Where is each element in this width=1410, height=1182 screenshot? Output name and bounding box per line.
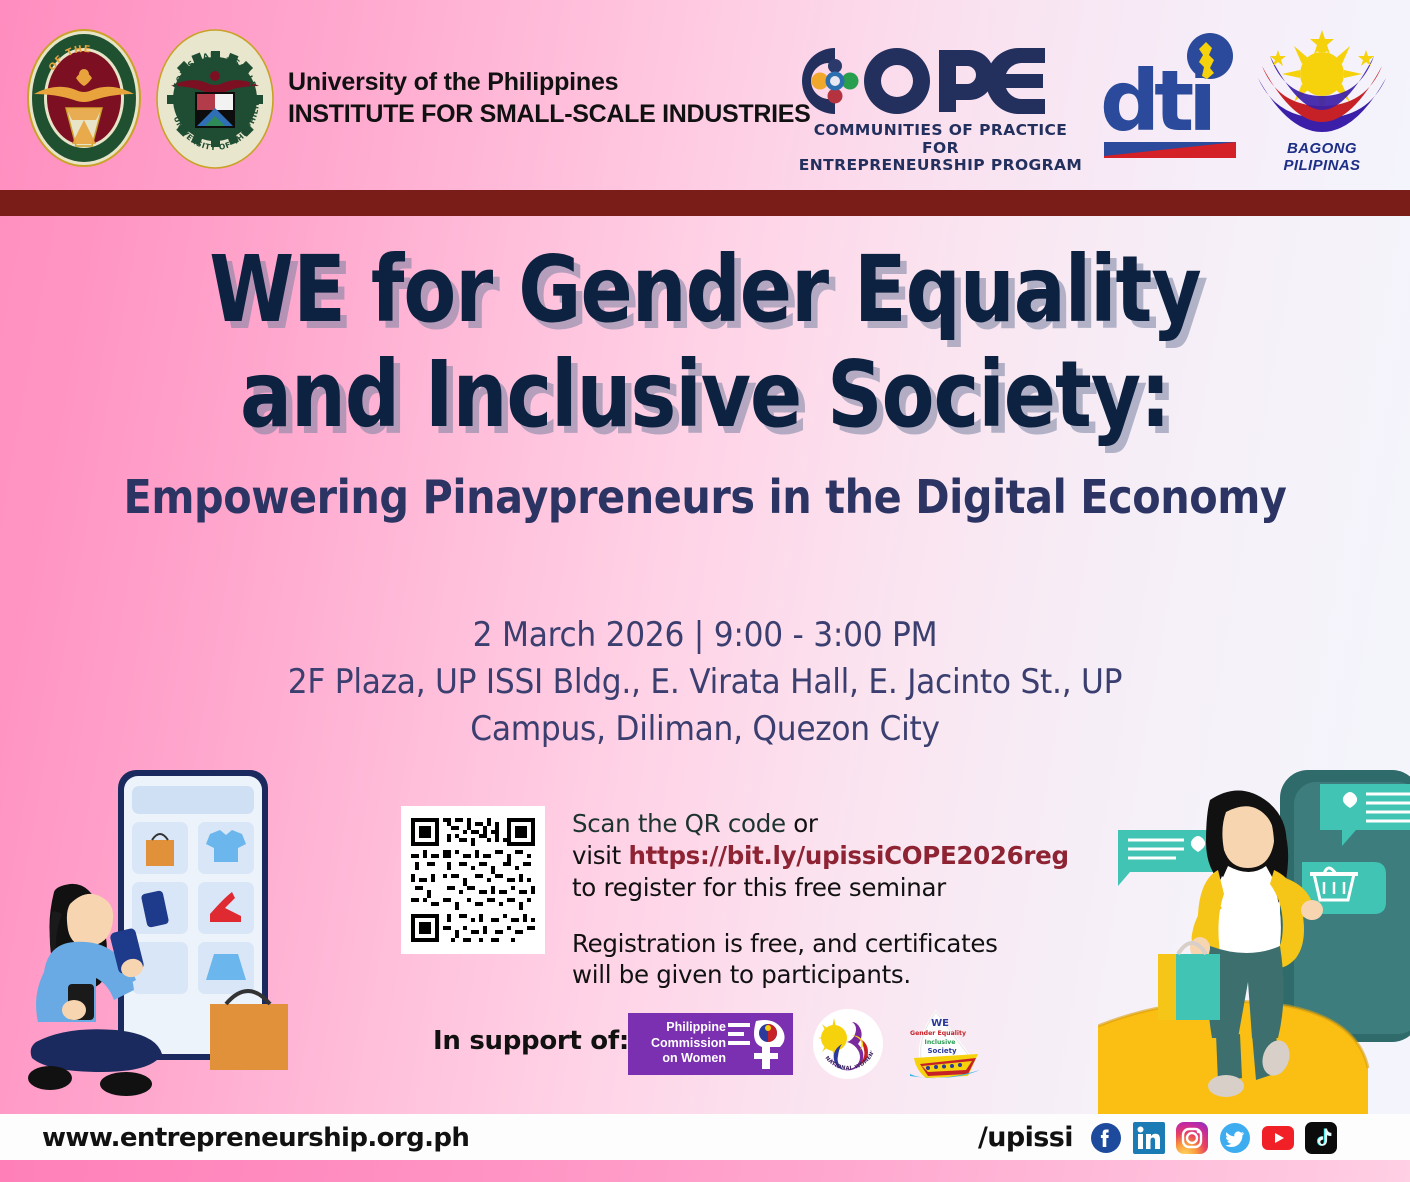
cope-sub-line2: ENTREPRENEURSHIP PROGRAM [793,157,1088,175]
qr-code[interactable] [401,806,545,954]
bagong-pilipinas-label: BAGONG PILIPINAS [1248,140,1396,174]
pcw-text: Philippine Commission on Women [638,1020,726,1067]
header-band: 1908 OF THE [0,0,1410,190]
scan-line: Scan the QR code or [572,808,1092,840]
org-line-university: University of the Philippines [288,66,811,98]
svg-text:1908: 1908 [69,148,100,161]
organization-name: University of the Philippines INSTITUTE … [288,66,811,130]
youtube-icon[interactable] [1262,1122,1294,1154]
up-seal-icon: 1908 OF THE [26,28,142,168]
bagong-pilipinas-logo: BAGONG PILIPINAS [1248,26,1396,171]
linkedin-icon[interactable] [1133,1122,1165,1154]
title-line-1: WE for Gender Equality [49,238,1360,343]
illustration-woman-shopping-bags [1098,758,1410,1114]
title-line-2: and Inclusive Society: [49,343,1360,448]
social-media-links [1090,1122,1337,1154]
event-venue-line2: Campus, Diliman, Quezon City [56,706,1353,753]
national-womens-month-logo: NATIONAL WOMEN'S MONTH [812,1008,884,1080]
event-datetime: 2 March 2026 | 9:00 - 3:00 PM [56,612,1353,659]
maroon-divider-bar [0,190,1410,216]
cope-sub-line1: COMMUNITIES OF PRACTICE FOR [793,122,1088,157]
svg-text:Inclusive: Inclusive [925,1039,956,1046]
cope-logo: COMMUNITIES OF PRACTICE FOR ENTREPRENEUR… [793,42,1088,167]
subtitle: Empowering Pinaypreneurs in the Digital … [71,470,1340,524]
philippine-commission-on-women-logo: Philippine Commission on Women [628,1013,793,1075]
title-section: WE for Gender Equality and Inclusive Soc… [0,238,1410,524]
svg-text:WE: WE [931,1018,949,1029]
bagong-pilipinas-icon [1248,26,1396,138]
register-line: to register for this free seminar [572,872,1092,904]
qr-code-image[interactable] [407,812,539,948]
visit-text: visit [572,841,628,870]
support-label: In support of: [433,1026,629,1056]
or-text: or [786,809,818,838]
dti-logo-icon: dti [1098,30,1238,170]
pcw-emblem-icon [726,1013,796,1075]
cope-wordmark-icon [793,42,1088,120]
instagram-icon[interactable] [1176,1122,1208,1154]
pcw-line3: on Women [638,1051,726,1067]
pcw-line1: Philippine [638,1020,726,1036]
event-venue-line1: 2F Plaza, UP ISSI Bldg., E. Virata Hall,… [56,659,1353,706]
svg-text:Gender Equality: Gender Equality [910,1030,966,1037]
we-gender-equality-inclusive-society-logo: WE Gender Equality Inclusive Society [902,1008,982,1082]
poster-canvas: 1908 OF THE [0,0,1410,1182]
scan-text: Scan the QR code [572,809,786,838]
illustration-woman-phone-shopping [14,762,314,1114]
note-line1: Registration is free, and certificates [572,928,1092,960]
registration-url[interactable]: https://bit.ly/upissiCOPE2026reg [628,841,1068,870]
bottom-pink-band [0,1160,1410,1182]
facebook-icon[interactable] [1090,1122,1122,1154]
org-line-institute: INSTITUTE FOR SMALL-SCALE INDUSTRIES [288,98,811,130]
svg-text:Society: Society [927,1047,956,1055]
footer-handle: /upissi [978,1122,1073,1153]
cope-subtitle: COMMUNITIES OF PRACTICE FOR ENTREPRENEUR… [793,122,1088,175]
visit-line: visit https://bit.ly/upissiCOPE2026reg [572,840,1092,872]
pcw-line2: Commission [638,1036,726,1052]
twitter-icon[interactable] [1219,1122,1251,1154]
registration-info: Scan the QR code or visit https://bit.ly… [572,808,1092,991]
note-line2: will be given to participants. [572,959,1092,991]
footer-website[interactable]: www.entrepreneurship.org.ph [42,1123,469,1153]
issi-seal-icon: FOR SMALL - SCALE UNIVERSITY OF THE PHIL… [155,28,275,170]
event-details: 2 March 2026 | 9:00 - 3:00 PM 2F Plaza, … [56,612,1353,753]
tiktok-icon[interactable] [1305,1122,1337,1154]
spacer [572,904,1092,928]
